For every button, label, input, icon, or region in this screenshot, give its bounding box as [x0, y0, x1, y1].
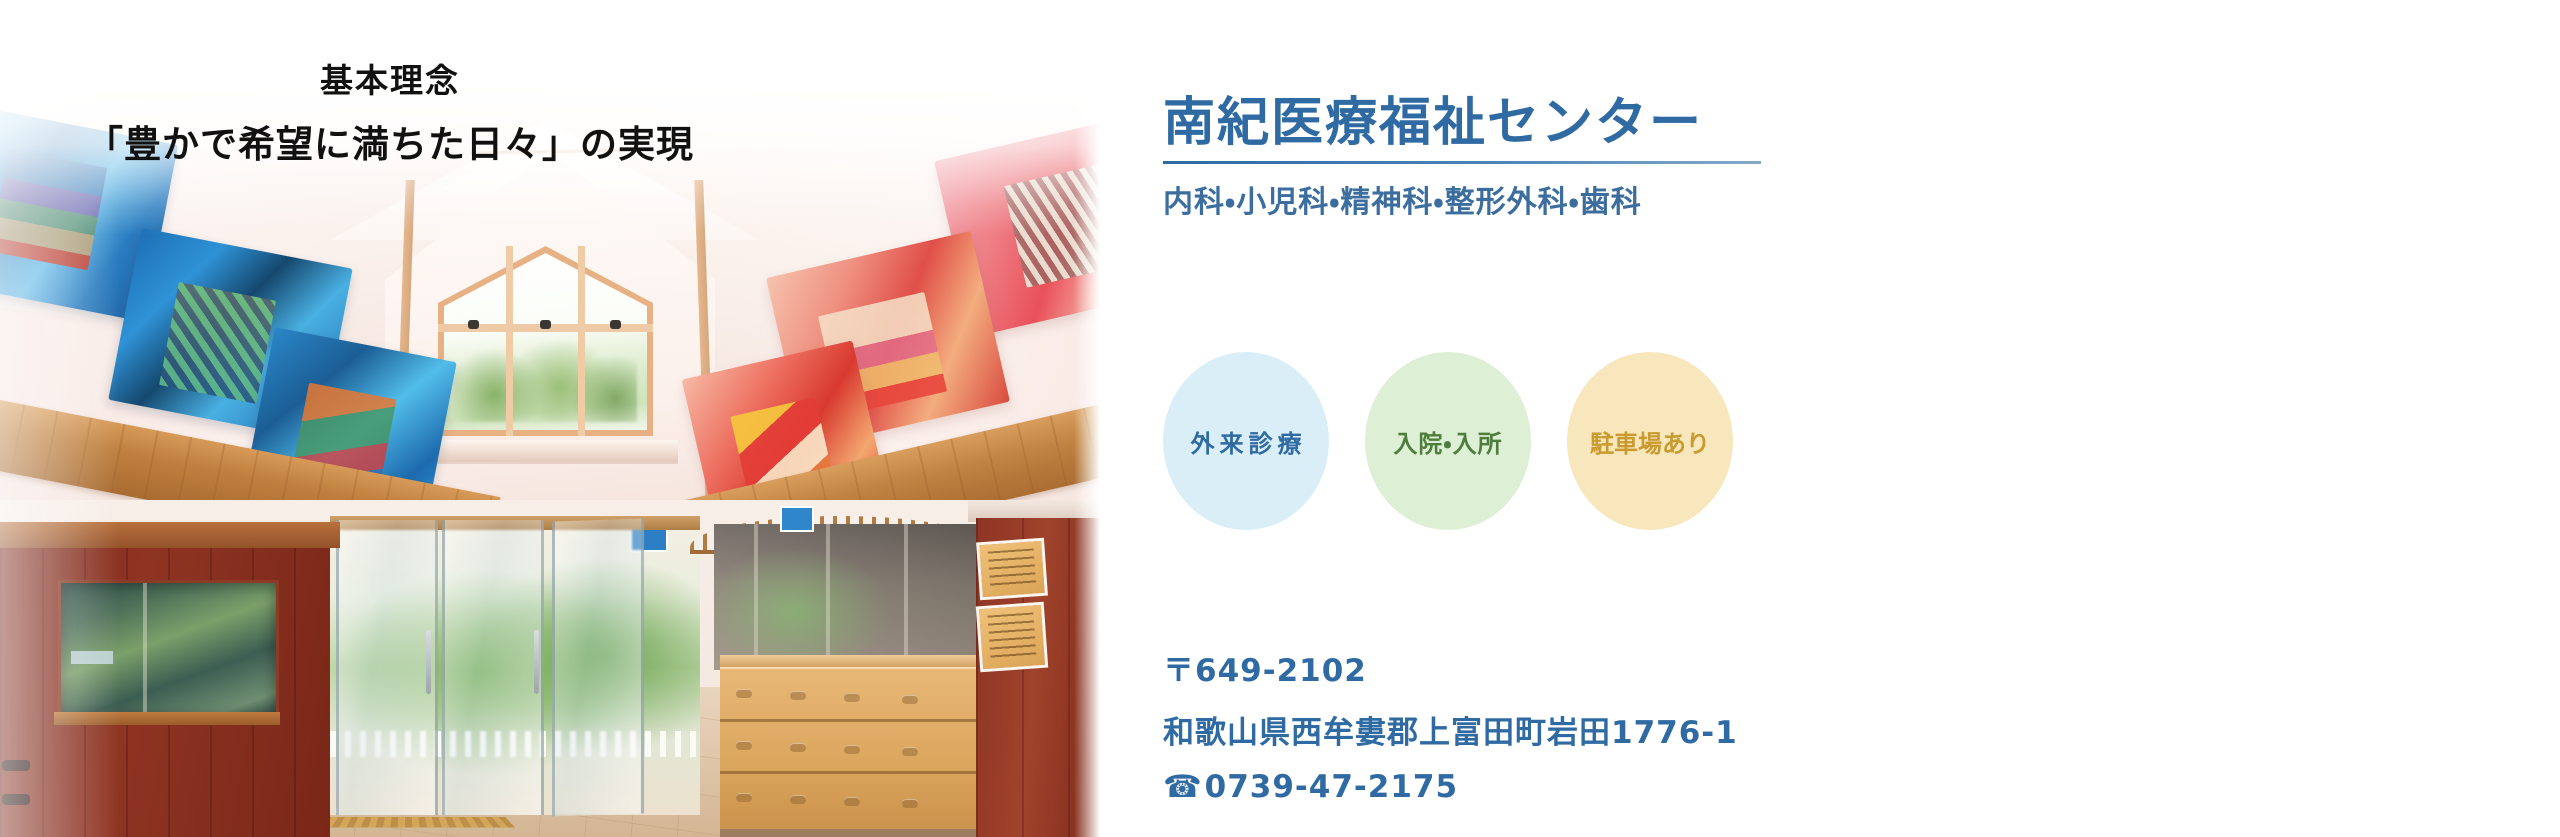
- brand-divider: [1163, 161, 1761, 164]
- facility-name: 南紀医療福祉センター: [1163, 95, 1803, 151]
- locker-knob: [790, 795, 806, 804]
- shoe-locker-top: [720, 655, 980, 667]
- wall-hook-1: [2, 760, 30, 771]
- locker-divider-1: [720, 719, 980, 722]
- locker-knob: [902, 695, 918, 704]
- exit-sign-right: [780, 506, 814, 532]
- door-panel-1: [336, 520, 438, 815]
- wall-notice-sign-2: [976, 602, 1048, 673]
- wall-hook-2: [2, 794, 30, 805]
- postal-code: 〒649-2102: [1163, 645, 1738, 690]
- door-handle-1: [426, 630, 431, 694]
- service-badges: 外来診療 入院・入所 駐車場あり: [1163, 352, 1733, 530]
- telephone-line[interactable]: ☎0739-47-2175: [1163, 769, 1738, 805]
- reception-window: [58, 580, 279, 721]
- window-mullion-2: [578, 246, 585, 436]
- locker-knob: [790, 743, 806, 752]
- brand-block: 南紀医療福祉センター 内科・小児科・精神科・整形外科・歯科: [1163, 95, 1803, 221]
- locker-knob: [902, 747, 918, 756]
- reception-wall-cap: [0, 522, 340, 548]
- glass-entrance-doors: [330, 520, 700, 815]
- badge-parking[interactable]: 駐車場あり: [1567, 352, 1733, 530]
- reception-notice: [71, 651, 113, 664]
- locker-knob: [844, 745, 860, 754]
- street-address: 和歌山県西牟婁郡上富田町岩田1776-1: [1163, 707, 1738, 752]
- entrance-hall: [0, 500, 1100, 837]
- locker-knob: [736, 689, 752, 698]
- telephone-icon: ☎: [1163, 769, 1203, 805]
- locker-divider-2: [720, 771, 980, 774]
- badge-outpatient[interactable]: 外来診療: [1163, 352, 1329, 530]
- door-handle-2: [534, 630, 539, 694]
- reception-counter: [54, 712, 280, 725]
- locker-knob: [844, 797, 860, 806]
- locker-knob: [736, 793, 752, 802]
- window-latch-2: [540, 320, 551, 329]
- window-foliage: [454, 330, 637, 422]
- departments-list: 内科・小児科・精神科・整形外科・歯科: [1163, 177, 1803, 221]
- window-sill: [420, 440, 678, 462]
- badge-inpatient[interactable]: 入院・入所: [1365, 352, 1531, 530]
- window-glass: [444, 253, 647, 430]
- facility-photo: 基本理念 「豊かで希望に満ちた日々」の実現: [0, 0, 1100, 837]
- locker-knob: [902, 799, 918, 808]
- gable-window: [438, 246, 653, 436]
- clinic-header-banner: 基本理念 「豊かで希望に満ちた日々」の実現 南紀医療福祉センター 内科・小児科・…: [0, 0, 2560, 837]
- philosophy-overlay: 基本理念 「豊かで希望に満ちた日々」の実現: [0, 58, 780, 171]
- window-latch-1: [468, 320, 479, 329]
- shoe-locker-base: [720, 829, 980, 837]
- badge-inpatient-label: 入院・入所: [1393, 424, 1502, 459]
- right-alcove: [714, 524, 982, 670]
- door-panel-2: [442, 520, 544, 815]
- contact-block: 〒649-2102 和歌山県西牟婁郡上富田町岩田1776-1 ☎0739-47-…: [1163, 645, 1738, 805]
- alcove-mullion-2: [826, 524, 830, 670]
- wall-notice-sign-1: [976, 538, 1048, 601]
- locker-knob: [790, 691, 806, 700]
- reception-wall: [0, 522, 330, 837]
- wood-pillar-right: [976, 518, 1100, 837]
- philosophy-heading: 基本理念: [0, 58, 780, 105]
- window-latch-3: [610, 320, 621, 329]
- locker-knob: [736, 741, 752, 750]
- shoe-lockers: [720, 667, 980, 837]
- locker-knob: [844, 693, 860, 702]
- philosophy-statement: 「豊かで希望に満ちた日々」の実現: [0, 119, 780, 172]
- alcove-mullion-3: [904, 524, 908, 670]
- badge-parking-label: 駐車場あり: [1590, 424, 1710, 459]
- telephone-number: 0739-47-2175: [1205, 769, 1458, 805]
- alcove-mullion-1: [754, 524, 758, 670]
- door-panel-3: [552, 518, 644, 816]
- info-pane: 南紀医療福祉センター 内科・小児科・精神科・整形外科・歯科 外来診療 入院・入所…: [1100, 0, 2560, 837]
- window-mullion-1: [506, 246, 513, 436]
- badge-outpatient-label: 外来診療: [1186, 424, 1307, 459]
